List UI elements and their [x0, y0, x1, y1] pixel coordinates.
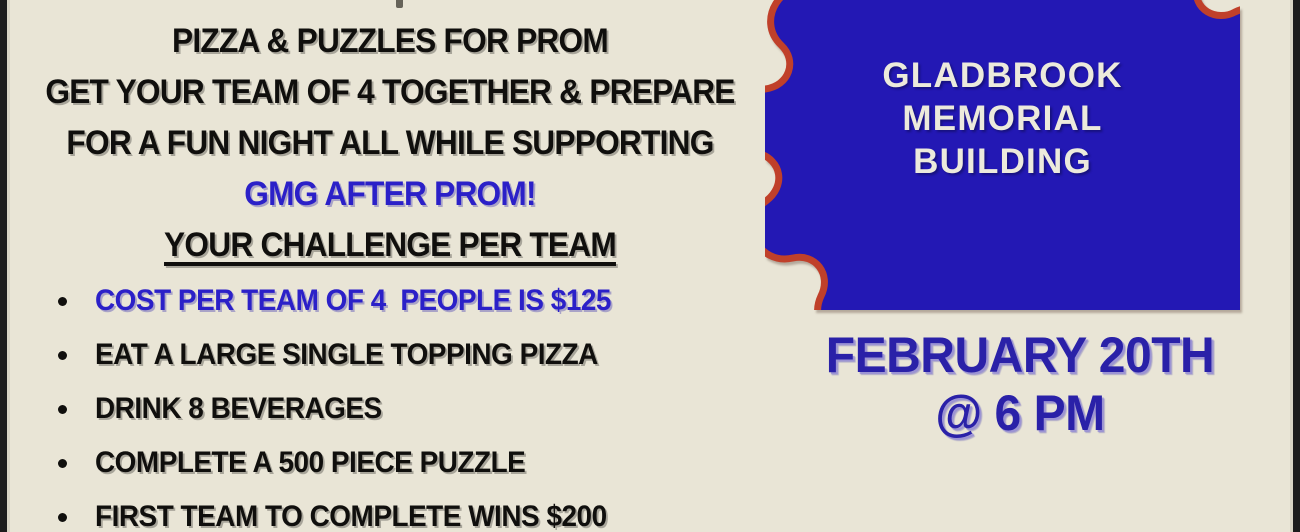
- bullet-dot-icon: [58, 459, 67, 468]
- headline-block: PIZZA & PUZZLES FOR PROM GET YOUR TEAM O…: [10, 16, 770, 271]
- letterbox-bar-left: [0, 0, 7, 532]
- list-item: COST PER TEAM OF 4 PEOPLE IS $125: [10, 274, 770, 328]
- venue-line-1: GLADBROOK: [765, 54, 1240, 97]
- event-datetime-block: FEBRUARY 20TH @ 6 PM: [770, 326, 1270, 442]
- challenge-item-cost: COST PER TEAM OF 4 PEOPLE IS $125: [95, 284, 611, 318]
- venue-line-3: BUILDING: [765, 140, 1240, 183]
- bullet-dot-icon: [58, 351, 67, 360]
- flyer-details-column: GLADBROOK MEMORIAL BUILDING FEBRUARY 20T…: [770, 0, 1290, 532]
- challenge-item-beverages: DRINK 8 BEVERAGES: [95, 392, 382, 426]
- challenge-rules-list: COST PER TEAM OF 4 PEOPLE IS $125 EAT A …: [10, 274, 770, 532]
- event-date: FEBRUARY 20TH: [780, 326, 1260, 384]
- venue-line-2: MEMORIAL: [765, 97, 1240, 140]
- list-item: COMPLETE A 500 PIECE PUZZLE: [10, 436, 770, 490]
- headline-line-3: FOR A FUN NIGHT ALL WHILE SUPPORTING: [37, 118, 744, 169]
- headline-line-2: GET YOUR TEAM OF 4 TOGETHER & PREPARE: [37, 67, 744, 118]
- bullet-dot-icon: [58, 513, 67, 522]
- letterbox-bar-right: [1293, 0, 1300, 532]
- frame-seam-left: [7, 0, 10, 532]
- headline-line-4-beneficiary: GMG AFTER PROM!: [37, 169, 744, 220]
- venue-starburst-badge: GLADBROOK MEMORIAL BUILDING: [765, 0, 1240, 310]
- challenge-item-prize: FIRST TEAM TO COMPLETE WINS $200: [95, 500, 607, 532]
- challenge-item-puzzle: COMPLETE A 500 PIECE PUZZLE: [95, 446, 525, 480]
- event-time: @ 6 PM: [780, 384, 1260, 442]
- promotional-flyer: PIZZA & PUZZLES FOR PROM GET YOUR TEAM O…: [0, 0, 1300, 532]
- list-item: EAT A LARGE SINGLE TOPPING PIZZA: [10, 328, 770, 382]
- cropped-text-descender: [396, 0, 403, 8]
- venue-name-text: GLADBROOK MEMORIAL BUILDING: [765, 54, 1240, 183]
- bullet-dot-icon: [58, 297, 67, 306]
- list-item: DRINK 8 BEVERAGES: [10, 382, 770, 436]
- bullet-dot-icon: [58, 405, 67, 414]
- list-item: FIRST TEAM TO COMPLETE WINS $200: [10, 490, 770, 532]
- flyer-text-column: PIZZA & PUZZLES FOR PROM GET YOUR TEAM O…: [10, 0, 770, 532]
- headline-line-1: PIZZA & PUZZLES FOR PROM: [37, 16, 744, 67]
- challenge-section-title: YOUR CHALLENGE PER TEAM: [37, 220, 744, 271]
- challenge-item-pizza: EAT A LARGE SINGLE TOPPING PIZZA: [95, 338, 598, 372]
